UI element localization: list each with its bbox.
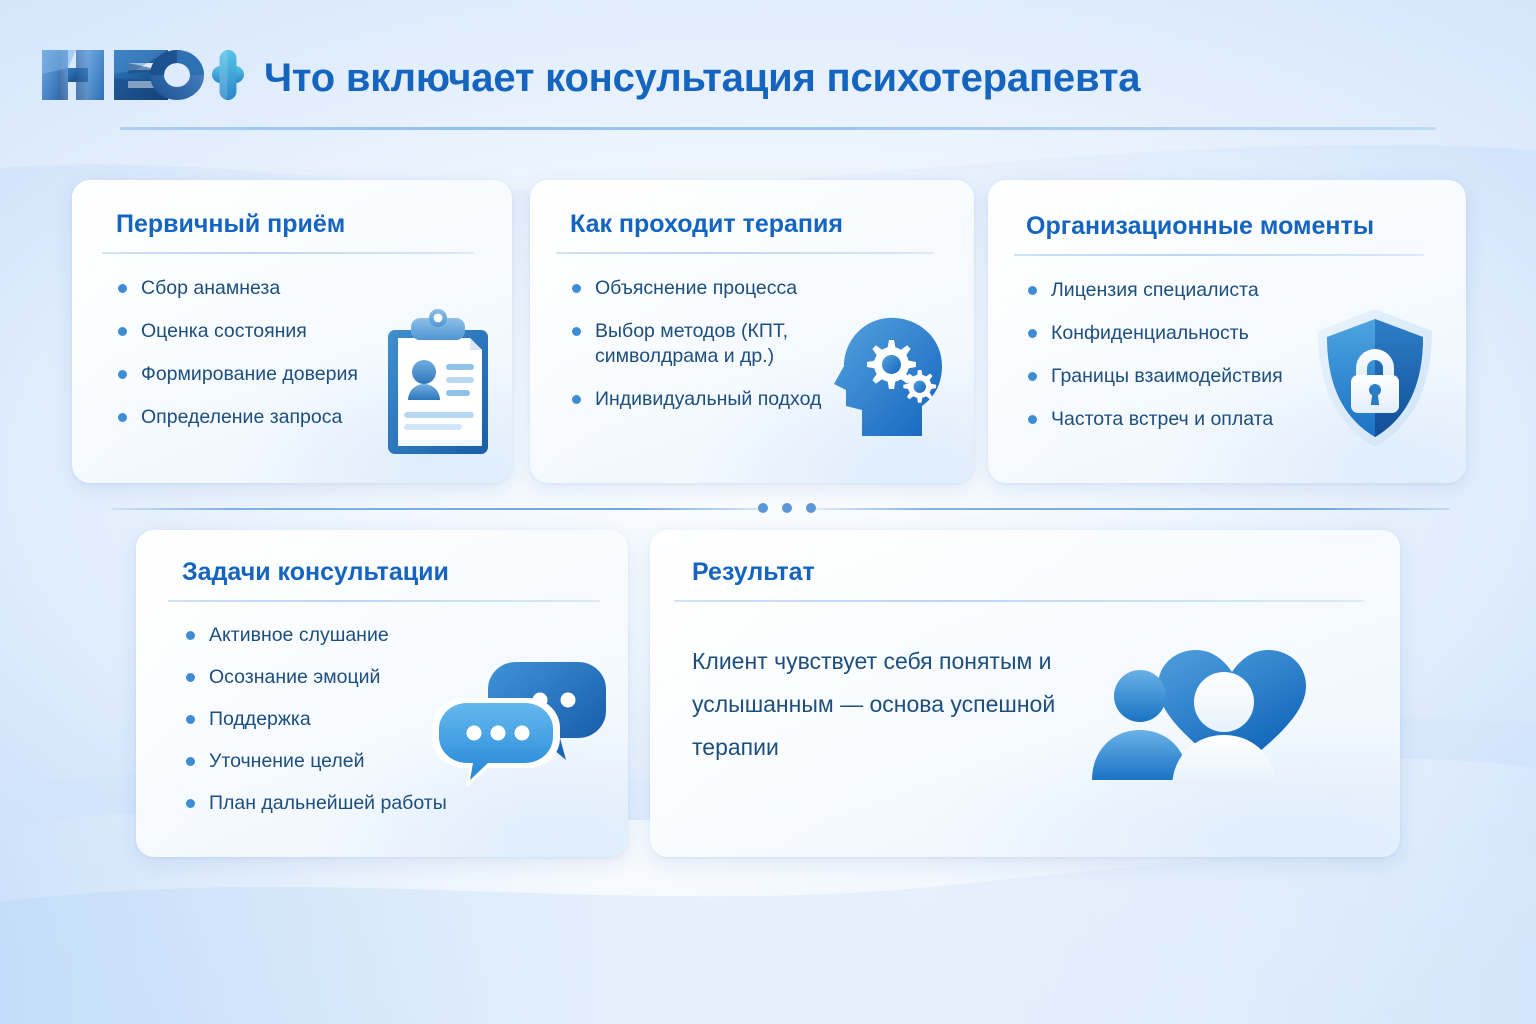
page-title: Что включает консультация психотерапевта xyxy=(264,58,1140,98)
card-title-underline xyxy=(556,252,934,254)
card-title-underline xyxy=(674,600,1364,602)
heart-people-icon xyxy=(1072,618,1372,823)
speech-bubbles-icon xyxy=(424,652,609,807)
clipboard-person-icon xyxy=(380,308,498,463)
divider-dots xyxy=(758,503,816,513)
list-item: План дальнейшей работы xyxy=(182,791,447,816)
bullet-list: Активное слушание Осознание эмоций Подде… xyxy=(182,623,447,834)
result-text: Клиент чувствует себя понятым и услышанн… xyxy=(692,640,1112,769)
list-item: Поддержка xyxy=(182,707,447,732)
list-item: Индивидуальный подход xyxy=(568,387,868,412)
list-item: Осознание эмоций xyxy=(182,665,447,690)
bullet-list: Лицензия специалиста Конфиденциальность … xyxy=(1024,278,1283,450)
card-consultation-goals[interactable]: Задачи консультации Активное слушание Ос… xyxy=(136,530,628,857)
list-item: Частота встреч и оплата xyxy=(1024,407,1283,432)
divider-dot xyxy=(806,503,816,513)
divider-dot xyxy=(782,503,792,513)
card-title: Задачи консультации xyxy=(182,560,449,585)
bullet-list: Объяснение процесса Выбор методов (КПТ, … xyxy=(568,276,868,430)
page-header: Что включает консультация психотерапевта xyxy=(0,0,1536,140)
bullet-list: Сбор анамнеза Оценка состояния Формирова… xyxy=(114,276,358,448)
list-item: Выбор методов (КПТ, символдрама и др.) xyxy=(568,319,828,369)
header-underline xyxy=(120,127,1436,130)
card-primary-intake[interactable]: Первичный приём Сбор анамнеза Оценка сос… xyxy=(72,180,512,483)
list-item: Лицензия специалиста xyxy=(1024,278,1283,303)
divider-line-right xyxy=(816,508,1450,510)
card-result[interactable]: Результат Клиент чувствует себя понятым … xyxy=(650,530,1400,857)
card-title: Как проходит терапия xyxy=(570,212,843,237)
section-divider xyxy=(0,495,1536,523)
neo-plus-logo xyxy=(40,44,246,111)
card-title: Организационные моменты xyxy=(1026,214,1374,239)
card-title-underline xyxy=(1014,254,1424,256)
list-item: Уточнение целей xyxy=(182,749,447,774)
header-row: Что включает консультация психотерапевта xyxy=(40,44,1140,111)
card-therapy-process[interactable]: Как проходит терапия Объяснение процесса… xyxy=(530,180,974,483)
card-title-underline xyxy=(168,600,600,602)
head-gears-icon xyxy=(830,310,960,460)
card-organizational[interactable]: Организационные моменты Лицензия специал… xyxy=(988,180,1466,483)
list-item: Определение запроса xyxy=(114,405,358,430)
list-item: Границы взаимодействия xyxy=(1024,364,1283,389)
list-item: Сбор анамнеза xyxy=(114,276,358,301)
list-item: Оценка состояния xyxy=(114,319,358,344)
card-title: Первичный приём xyxy=(116,212,345,237)
list-item: Объяснение процесса xyxy=(568,276,868,301)
card-title-underline xyxy=(102,252,474,254)
divider-line-left xyxy=(112,508,758,510)
card-title: Результат xyxy=(692,560,815,585)
list-item: Активное слушание xyxy=(182,623,447,648)
list-item: Формирование доверия xyxy=(114,362,358,387)
shield-lock-icon xyxy=(1310,305,1440,460)
list-item: Конфиденциальность xyxy=(1024,321,1283,346)
divider-dot xyxy=(758,503,768,513)
